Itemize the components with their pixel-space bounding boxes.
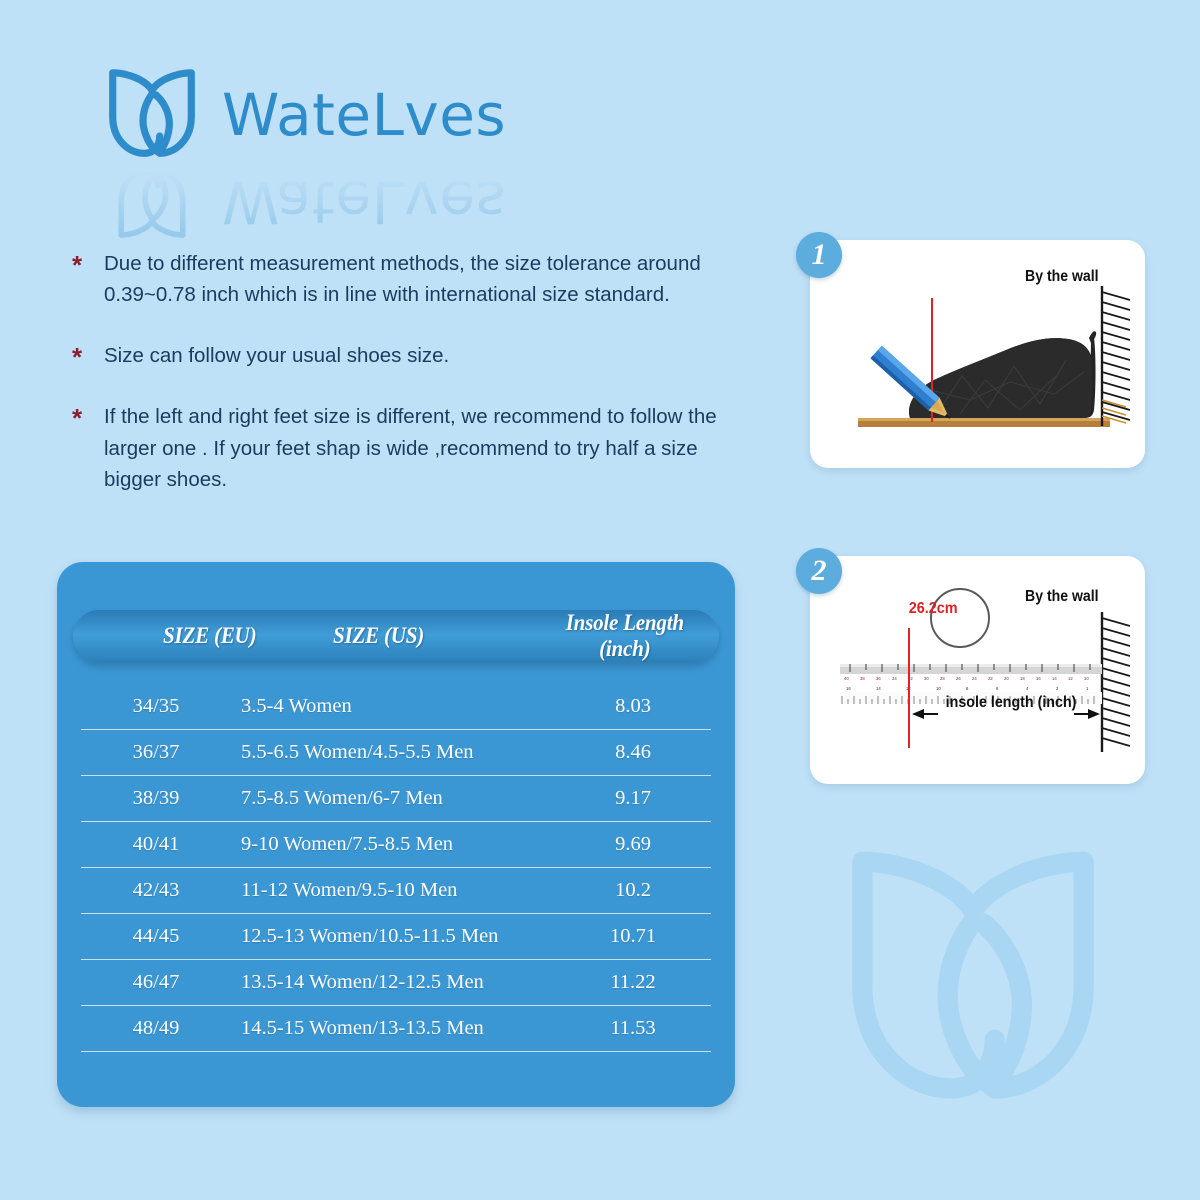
svg-text:16: 16 (1036, 676, 1041, 681)
brand-name: WateLves (222, 86, 506, 144)
table-header-row: SIZE (EU) SIZE (US) Insole Length (inch) (73, 610, 719, 662)
asterisk-icon: * (72, 340, 90, 371)
cell-size-eu: 46/47 (81, 971, 231, 994)
cell-size-us: 11-12 Women/9.5-10 Men (231, 879, 561, 902)
note-text: If the left and right feet size is diffe… (104, 401, 722, 494)
logo-reflection: WateLves (104, 166, 564, 238)
cell-size-us: 7.5-8.5 Women/6-7 Men (231, 787, 561, 810)
svg-text:4: 4 (1026, 686, 1029, 691)
table-row: 42/43 11-12 Women/9.5-10 Men 10.2 (81, 868, 711, 914)
svg-text:34: 34 (892, 676, 897, 681)
svg-text:2: 2 (1056, 686, 1059, 691)
table-row: 40/41 9-10 Women/7.5-8.5 Men 9.69 (81, 822, 711, 868)
cell-size-us: 14.5-15 Women/13-13.5 Men (231, 1017, 561, 1040)
note-item: * If the left and right feet size is dif… (72, 401, 722, 494)
brand-logo: WateLves WateLves (104, 66, 564, 236)
svg-text:6: 6 (996, 686, 999, 691)
cell-insole-length: 9.17 (561, 787, 711, 810)
note-item: * Due to different measurement methods, … (72, 248, 722, 310)
svg-text:26: 26 (956, 676, 961, 681)
note-text: Due to different measurement methods, th… (104, 248, 722, 310)
leaf-petal-watermark-icon (838, 848, 1108, 1113)
insole-length-dimension-label: insole length (inch) (946, 694, 1077, 712)
note-text: Size can follow your usual shoes size. (104, 340, 449, 371)
size-chart-page: WateLves WateLves * Due to different mea… (0, 0, 1200, 1200)
svg-text:20: 20 (1004, 676, 1009, 681)
step-1-badge: 1 (796, 232, 842, 278)
svg-text:38: 38 (860, 676, 865, 681)
table-row: 44/45 12.5-13 Women/10.5-11.5 Men 10.71 (81, 914, 711, 960)
svg-text:40: 40 (844, 676, 849, 681)
cell-size-eu: 48/49 (81, 1017, 231, 1040)
cell-insole-length: 11.53 (561, 1017, 711, 1040)
size-table-panel: SIZE (EU) SIZE (US) Insole Length (inch)… (57, 562, 735, 1107)
cell-size-eu: 38/39 (81, 787, 231, 810)
svg-text:14: 14 (1052, 676, 1057, 681)
table-row: 34/35 3.5-4 Women 8.03 (81, 684, 711, 730)
cell-insole-length: 10.2 (561, 879, 711, 902)
svg-text:18: 18 (1020, 676, 1025, 681)
cell-size-us: 12.5-13 Women/10.5-11.5 Men (231, 925, 561, 948)
svg-text:30: 30 (924, 676, 929, 681)
svg-text:24: 24 (972, 676, 977, 681)
note-item: * Size can follow your usual shoes size. (72, 340, 722, 371)
column-header-insole-length: Insole Length (inch) (553, 610, 706, 662)
svg-text:22: 22 (988, 676, 993, 681)
svg-text:36: 36 (876, 676, 881, 681)
cell-insole-length: 11.22 (561, 971, 711, 994)
svg-text:10: 10 (936, 686, 941, 691)
cell-size-eu: 40/41 (81, 833, 231, 856)
logo-watermark (838, 848, 1108, 1113)
svg-text:10: 10 (1084, 676, 1089, 681)
leaf-petal-logo-icon (104, 69, 200, 161)
size-table-body: 34/35 3.5-4 Women 8.03 36/37 5.5-6.5 Wom… (81, 684, 711, 1052)
cell-size-us: 3.5-4 Women (231, 695, 561, 718)
column-header-size-eu: SIZE (EU) (163, 623, 319, 649)
asterisk-icon: * (72, 248, 90, 310)
svg-text:16: 16 (846, 686, 851, 691)
wall-label-step-2: By the wall (1025, 588, 1099, 606)
cell-insole-length: 8.03 (561, 695, 711, 718)
cell-insole-length: 10.71 (561, 925, 711, 948)
notes-list: * Due to different measurement methods, … (72, 248, 722, 525)
cell-size-eu: 42/43 (81, 879, 231, 902)
cell-insole-length: 8.46 (561, 741, 711, 764)
cell-size-us: 13.5-14 Women/12-12.5 Men (231, 971, 561, 994)
logo-primary: WateLves (104, 66, 564, 164)
step-2-badge: 2 (796, 548, 842, 594)
measurement-value-label: 26.2cm (909, 600, 958, 618)
wall-label-step-1: By the wall (1025, 268, 1099, 286)
svg-text:12: 12 (1068, 676, 1073, 681)
cell-size-eu: 36/37 (81, 741, 231, 764)
table-row: 36/37 5.5-6.5 Women/4.5-5.5 Men 8.46 (81, 730, 711, 776)
cell-size-us: 9-10 Women/7.5-8.5 Men (231, 833, 561, 856)
table-row: 48/49 14.5-15 Women/13-13.5 Men 11.53 (81, 1006, 711, 1052)
cell-insole-length: 9.69 (561, 833, 711, 856)
svg-text:14: 14 (876, 686, 881, 691)
column-header-size-us: SIZE (US) (333, 623, 535, 649)
leaf-petal-logo-reflection-icon (104, 166, 200, 238)
asterisk-icon: * (72, 401, 90, 494)
svg-text:28: 28 (940, 676, 945, 681)
table-row: 38/39 7.5-8.5 Women/6-7 Men 9.17 (81, 776, 711, 822)
table-row: 46/47 13.5-14 Women/12-12.5 Men 11.22 (81, 960, 711, 1006)
svg-text:1: 1 (1086, 686, 1089, 691)
cell-size-us: 5.5-6.5 Women/4.5-5.5 Men (231, 741, 561, 764)
cell-size-eu: 44/45 (81, 925, 231, 948)
cell-size-eu: 34/35 (81, 695, 231, 718)
svg-text:8: 8 (966, 686, 969, 691)
brand-name-reflection: WateLves (222, 173, 506, 231)
